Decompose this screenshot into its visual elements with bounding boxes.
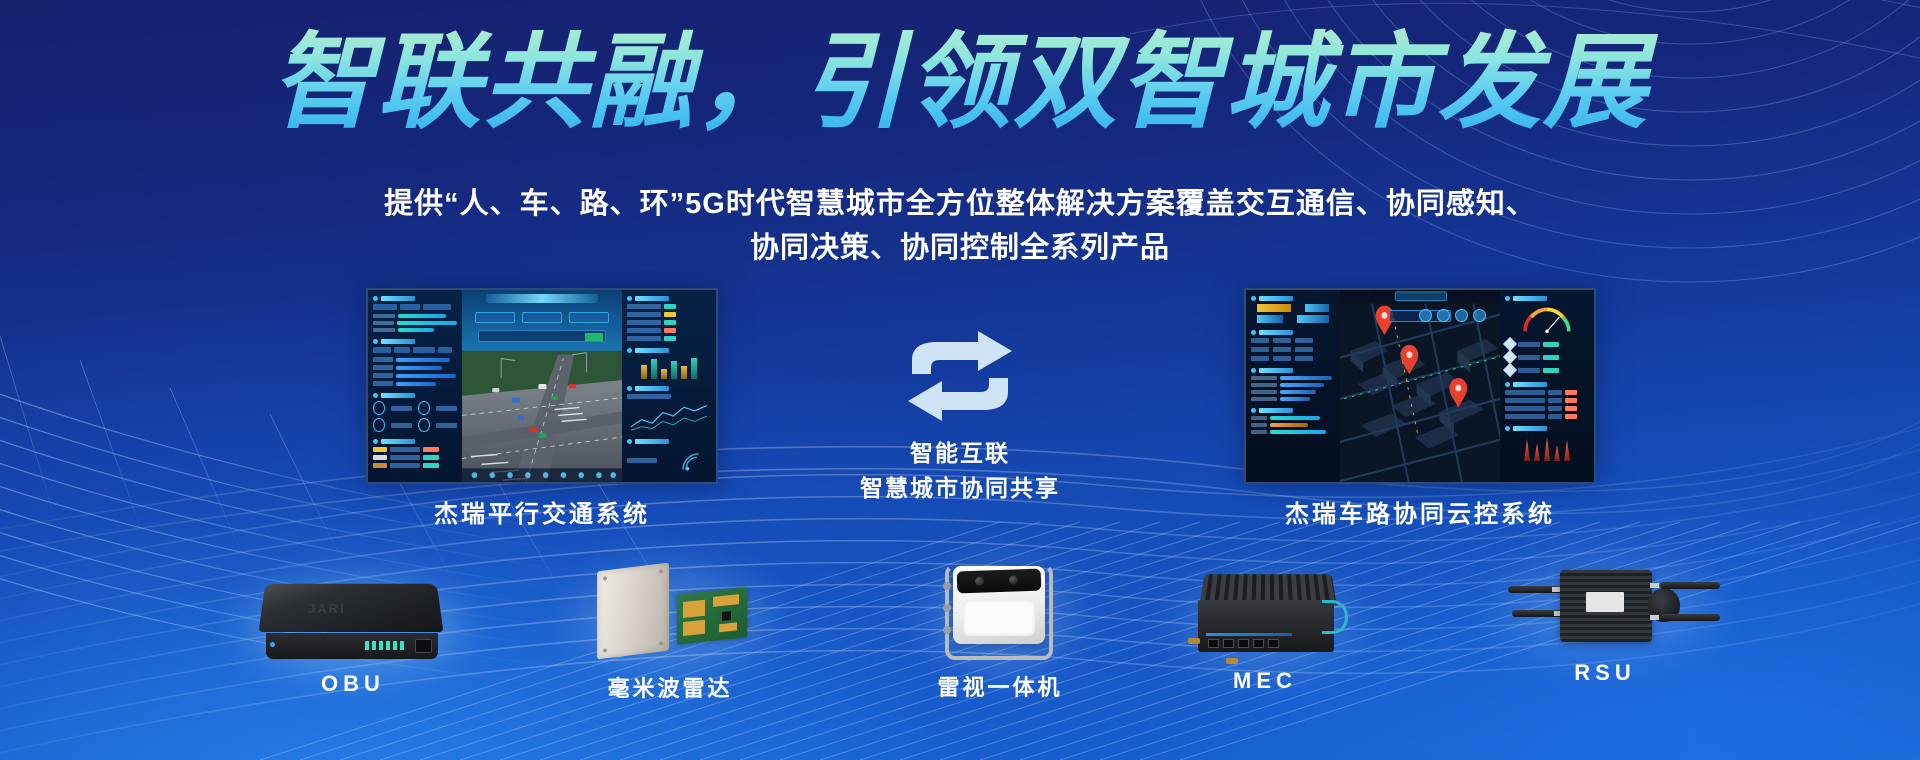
parallel-traffic-dashboard-image[interactable] <box>366 288 718 484</box>
radar-label: 毫米波雷达 <box>555 671 785 703</box>
subtitle-line-1: 提供“人、车、路、环”5G时代智慧城市全方位整体解决方案覆盖交互通信、协同感知、 <box>0 182 1920 226</box>
rsu-device-image <box>1508 558 1704 654</box>
product-camera-radar[interactable]: 雷视一体机 <box>885 560 1115 702</box>
cloud-control-caption: 杰瑞车路协同云控系统 <box>1210 494 1630 529</box>
obu-brand-text: JARI <box>308 601 346 616</box>
rsu-label: RSU <box>1460 660 1750 686</box>
cloud-left-panel <box>1246 290 1340 482</box>
banner-headline: 智联共融，引领双智城市发展 <box>0 24 1920 140</box>
dashboard-right-panel <box>622 290 716 482</box>
camera-radar-label: 雷视一体机 <box>885 670 1115 702</box>
cloud-3d-city-map <box>1340 290 1500 482</box>
exchange-arrows-icon <box>904 330 1016 422</box>
dashboard-left-panel <box>368 290 462 482</box>
interconnect-block: 智能互联 智慧城市协同共享 <box>860 330 1060 505</box>
mec-label: MEC <box>1150 668 1380 694</box>
camera-radar-unit-image <box>941 560 1061 664</box>
cloud-control-dashboard-image[interactable] <box>1244 288 1596 484</box>
cloud-toolbar-icons[interactable] <box>1419 309 1486 322</box>
product-radar[interactable]: 毫米波雷达 <box>555 565 785 703</box>
product-mec[interactable]: MEC <box>1150 570 1380 694</box>
obu-device-image: JARI <box>256 575 446 665</box>
banner-subtitle: 提供“人、车、路、环”5G时代智慧城市全方位整体解决方案覆盖交互通信、协同感知、… <box>0 182 1920 270</box>
dashboard-tab-buttons[interactable] <box>475 312 609 323</box>
product-rsu[interactable]: RSU <box>1460 558 1750 686</box>
cloud-right-panel <box>1500 290 1594 482</box>
dashboard-search-input[interactable] <box>478 330 606 342</box>
banner-stage: 智联共融，引领双智城市发展 提供“人、车、路、环”5G时代智慧城市全方位整体解决… <box>0 0 1920 760</box>
mmwave-radar-image <box>597 565 747 665</box>
obu-label: OBU <box>218 671 488 697</box>
traffic-index-gauge <box>1520 305 1574 333</box>
dashboard-3d-intersection-view <box>462 290 622 482</box>
mec-device-image <box>1192 570 1342 662</box>
product-obu[interactable]: JARI OBU <box>218 575 488 697</box>
interconnect-line-2: 智慧城市协同共享 <box>860 471 1060 506</box>
peak-flow-bars <box>1505 435 1589 461</box>
parallel-traffic-caption: 杰瑞平行交通系统 <box>332 494 752 529</box>
interconnect-line-1: 智能互联 <box>860 436 1060 471</box>
dashboard-title-bar <box>486 294 598 303</box>
subtitle-line-2: 协同决策、协同控制全系列产品 <box>0 226 1920 270</box>
interconnect-text: 智能互联 智慧城市协同共享 <box>860 436 1060 505</box>
